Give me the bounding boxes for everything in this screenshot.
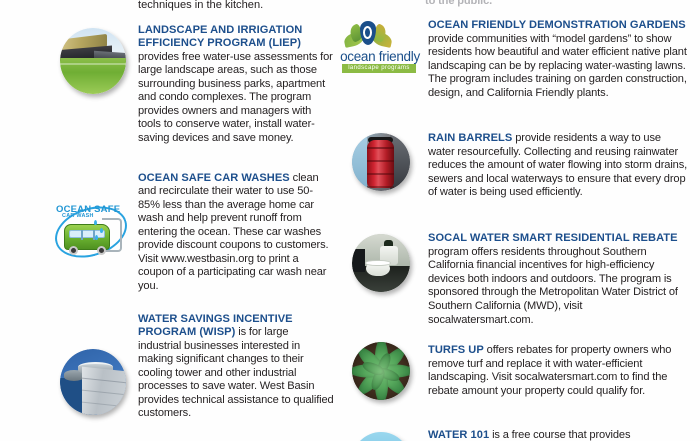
liep-body: provides free water-use assessments for … (138, 51, 333, 144)
water-101-text: WATER 101 is a free course that provides (428, 429, 690, 441)
wisp-media (60, 349, 126, 415)
entry-socal-water-smart-residential-rebate: SOCAL WATER SMART RESIDENTIAL REBATE pro… (340, 230, 700, 330)
right-column-cutoff-text: to the public. (425, 0, 565, 9)
ocean-safe-car-washes-text: OCEAN SAFE CAR WASHES clean and recircul… (138, 172, 334, 293)
turfs-up-media (352, 342, 410, 400)
ocean-safe-car-washes-body: clean and recirculate their water to use… (138, 172, 329, 292)
entry-turfs-up: TURFS UP offers rebates for property own… (340, 338, 700, 423)
succulent-plant-photo (352, 342, 410, 400)
cooling-tower-photo (60, 349, 126, 415)
rain-barrels-media (352, 133, 410, 191)
water-101-photo (352, 432, 410, 441)
water-101-media (352, 432, 410, 441)
bus-wheel-rear-icon (97, 246, 106, 255)
liep-media (60, 28, 126, 94)
liep-text: LANDSCAPE AND IRRIGATION EFFICIENCY PROG… (138, 24, 334, 145)
socal-water-smart-residential-rebate-heading: SOCAL WATER SMART RESIDENTIAL REBATE (428, 232, 678, 244)
socal-water-smart-media (352, 234, 410, 292)
water-101-heading: WATER 101 (428, 429, 489, 441)
stadium-turf-photo (60, 28, 126, 94)
ocean-friendly-landscape-programs-logo: ocean friendly landscape programs (334, 20, 426, 76)
entry-ocean-safe-car-washes: OCEAN SAFE CAR WASH OCEAN SAFE CAR WASHE… (0, 172, 340, 302)
rain-barrels-heading: RAIN BARRELS (428, 132, 512, 144)
left-column: techniques in the kitchen. LANDSCAPE AND (0, 0, 340, 441)
car-wash-logo-subtitle: CAR WASH (62, 213, 94, 219)
wisp-text: WATER SAVINGS INCENTIVE PROGRAM (WISP) i… (138, 313, 334, 421)
water-drop-icon (95, 235, 98, 240)
bathroom-toilet-photo (352, 234, 410, 292)
turfs-up-text: TURFS UP offers rebates for property own… (428, 344, 690, 398)
entry-water-101-cutoff: WATER 101 is a free course that provides (340, 424, 700, 441)
ocean-safe-car-washes-heading: OCEAN SAFE CAR WASHES (138, 172, 290, 184)
bus-wheel-front-icon (69, 246, 78, 255)
entry-liep: LANDSCAPE AND IRRIGATION EFFICIENCY PROG… (0, 24, 340, 174)
ocean-safe-car-wash-logo: OCEAN SAFE CAR WASH (50, 202, 136, 264)
entry-ocean-friendly-demonstration-gardens: ocean friendly landscape programs OCEAN … (340, 17, 700, 122)
ocean-friendly-wordmark: ocean friendly (330, 49, 430, 64)
left-column-cutoff-line: techniques in the kitchen. (138, 0, 338, 12)
turfs-up-heading: TURFS UP (428, 344, 484, 356)
water-101-body: is a free course that provides (492, 429, 630, 441)
rain-barrels-text: RAIN BARRELS provide residents a way to … (428, 132, 690, 200)
socal-water-smart-residential-rebate-text: SOCAL WATER SMART RESIDENTIAL REBATE pro… (428, 232, 690, 327)
right-column-cutoff-line: to the public. (425, 0, 565, 9)
entry-wisp: WATER SAVINGS INCENTIVE PROGRAM (WISP) i… (0, 313, 340, 433)
ocean-friendly-demonstration-gardens-body: provide communities with “model gardens”… (428, 33, 687, 99)
brochure-page: techniques in the kitchen. LANDSCAPE AND (0, 0, 700, 441)
right-column: to the public. ocean friendly landscape … (340, 0, 700, 441)
ocean-friendly-tagline: landscape programs (342, 64, 416, 73)
water-drop-icon (100, 228, 103, 233)
wisp-body: is for large industrial businesses inter… (138, 326, 334, 419)
water-drop-icon (94, 220, 97, 225)
socal-water-smart-residential-rebate-body: program offers residents throughout Sout… (428, 246, 678, 326)
ocean-friendly-demonstration-gardens-text: OCEAN FRIENDLY DEMONSTRATION GARDENS pro… (428, 19, 690, 101)
rain-barrel-photo (352, 133, 410, 191)
liep-heading: LANDSCAPE AND IRRIGATION EFFICIENCY PROG… (138, 24, 302, 49)
ocean-friendly-demonstration-gardens-heading: OCEAN FRIENDLY DEMONSTRATION GARDENS (428, 19, 686, 31)
entry-rain-barrels: RAIN BARRELS provide residents a way to … (340, 132, 700, 230)
